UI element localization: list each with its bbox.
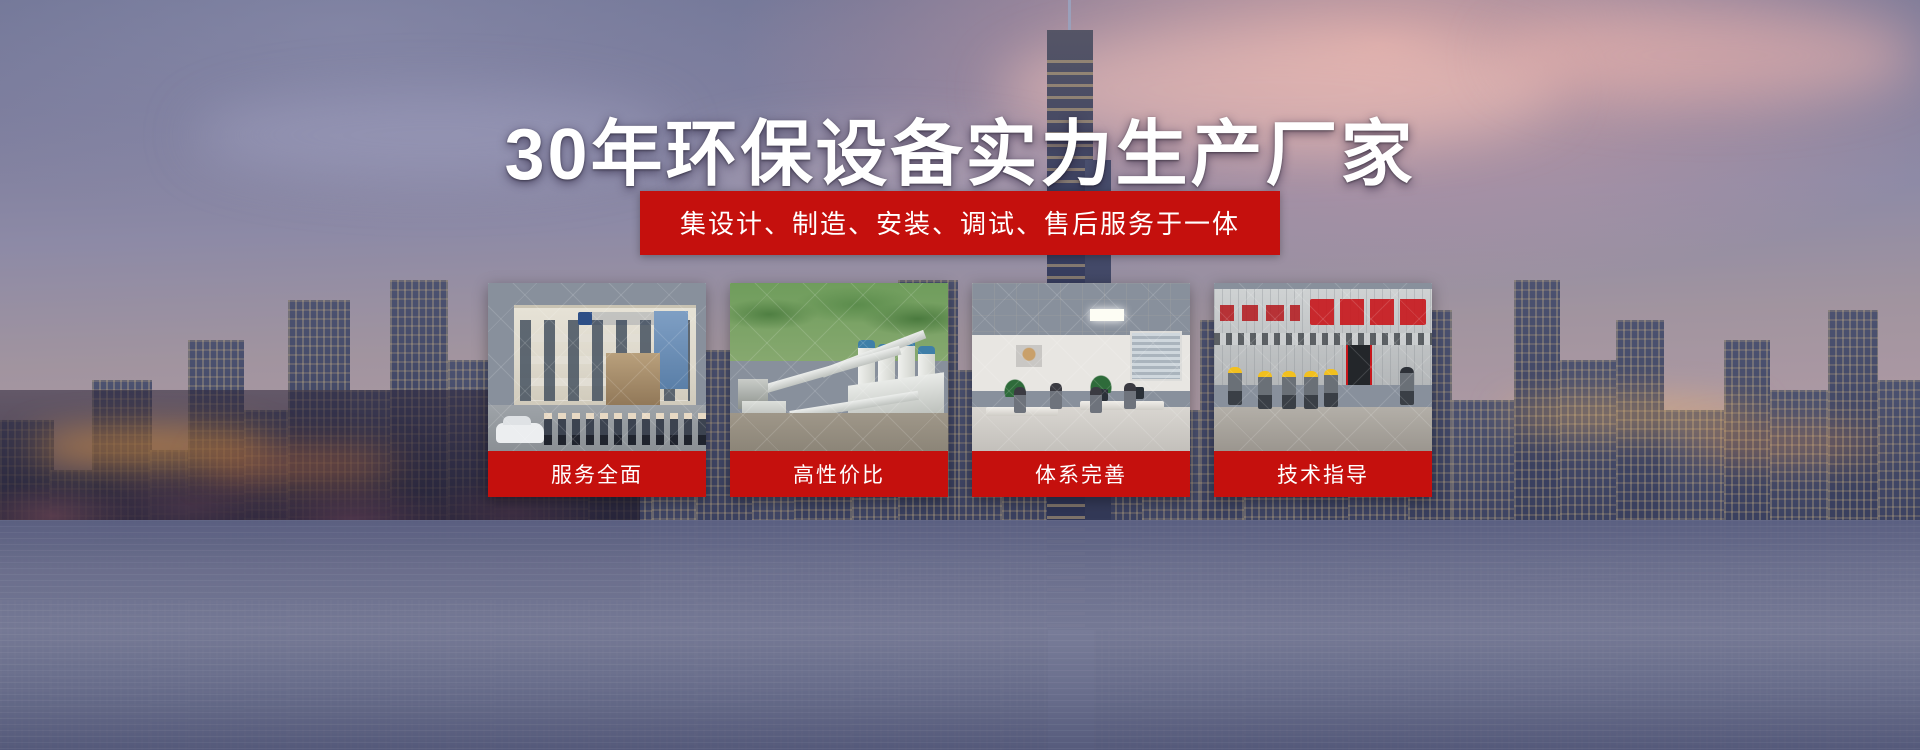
feature-card[interactable]: 体系完善 bbox=[972, 283, 1190, 497]
office-interior-photo bbox=[972, 283, 1190, 451]
feature-card[interactable]: 服务全面 bbox=[488, 283, 706, 497]
industrial-plant-photo bbox=[730, 283, 948, 451]
feature-card-caption: 体系完善 bbox=[972, 451, 1190, 497]
feature-card[interactable]: 高性价比 bbox=[730, 283, 948, 497]
car-icon bbox=[496, 423, 544, 443]
feature-card-caption: 技术指导 bbox=[1214, 451, 1432, 497]
factory-banner-text bbox=[1310, 299, 1426, 325]
feature-card-caption: 服务全面 bbox=[488, 451, 706, 497]
subtitle-bar: 集设计、制造、安装、调试、售后服务于一体 bbox=[640, 191, 1280, 255]
company-building-photo bbox=[488, 283, 706, 451]
feature-card-list: 服务全面 高性价比 bbox=[488, 283, 1432, 497]
factory-yard-photo bbox=[1214, 283, 1432, 451]
page-title: 30年环保设备实力生产厂家 bbox=[0, 95, 1920, 200]
feature-card-caption: 高性价比 bbox=[730, 451, 948, 497]
hero-banner: 30年环保设备实力生产厂家 集设计、制造、安装、调试、售后服务于一体 服务全面 bbox=[0, 0, 1920, 750]
wall-emblem bbox=[1016, 345, 1042, 367]
feature-card[interactable]: 技术指导 bbox=[1214, 283, 1432, 497]
factory-slogan-text bbox=[1220, 305, 1300, 321]
river-water bbox=[0, 520, 1920, 750]
